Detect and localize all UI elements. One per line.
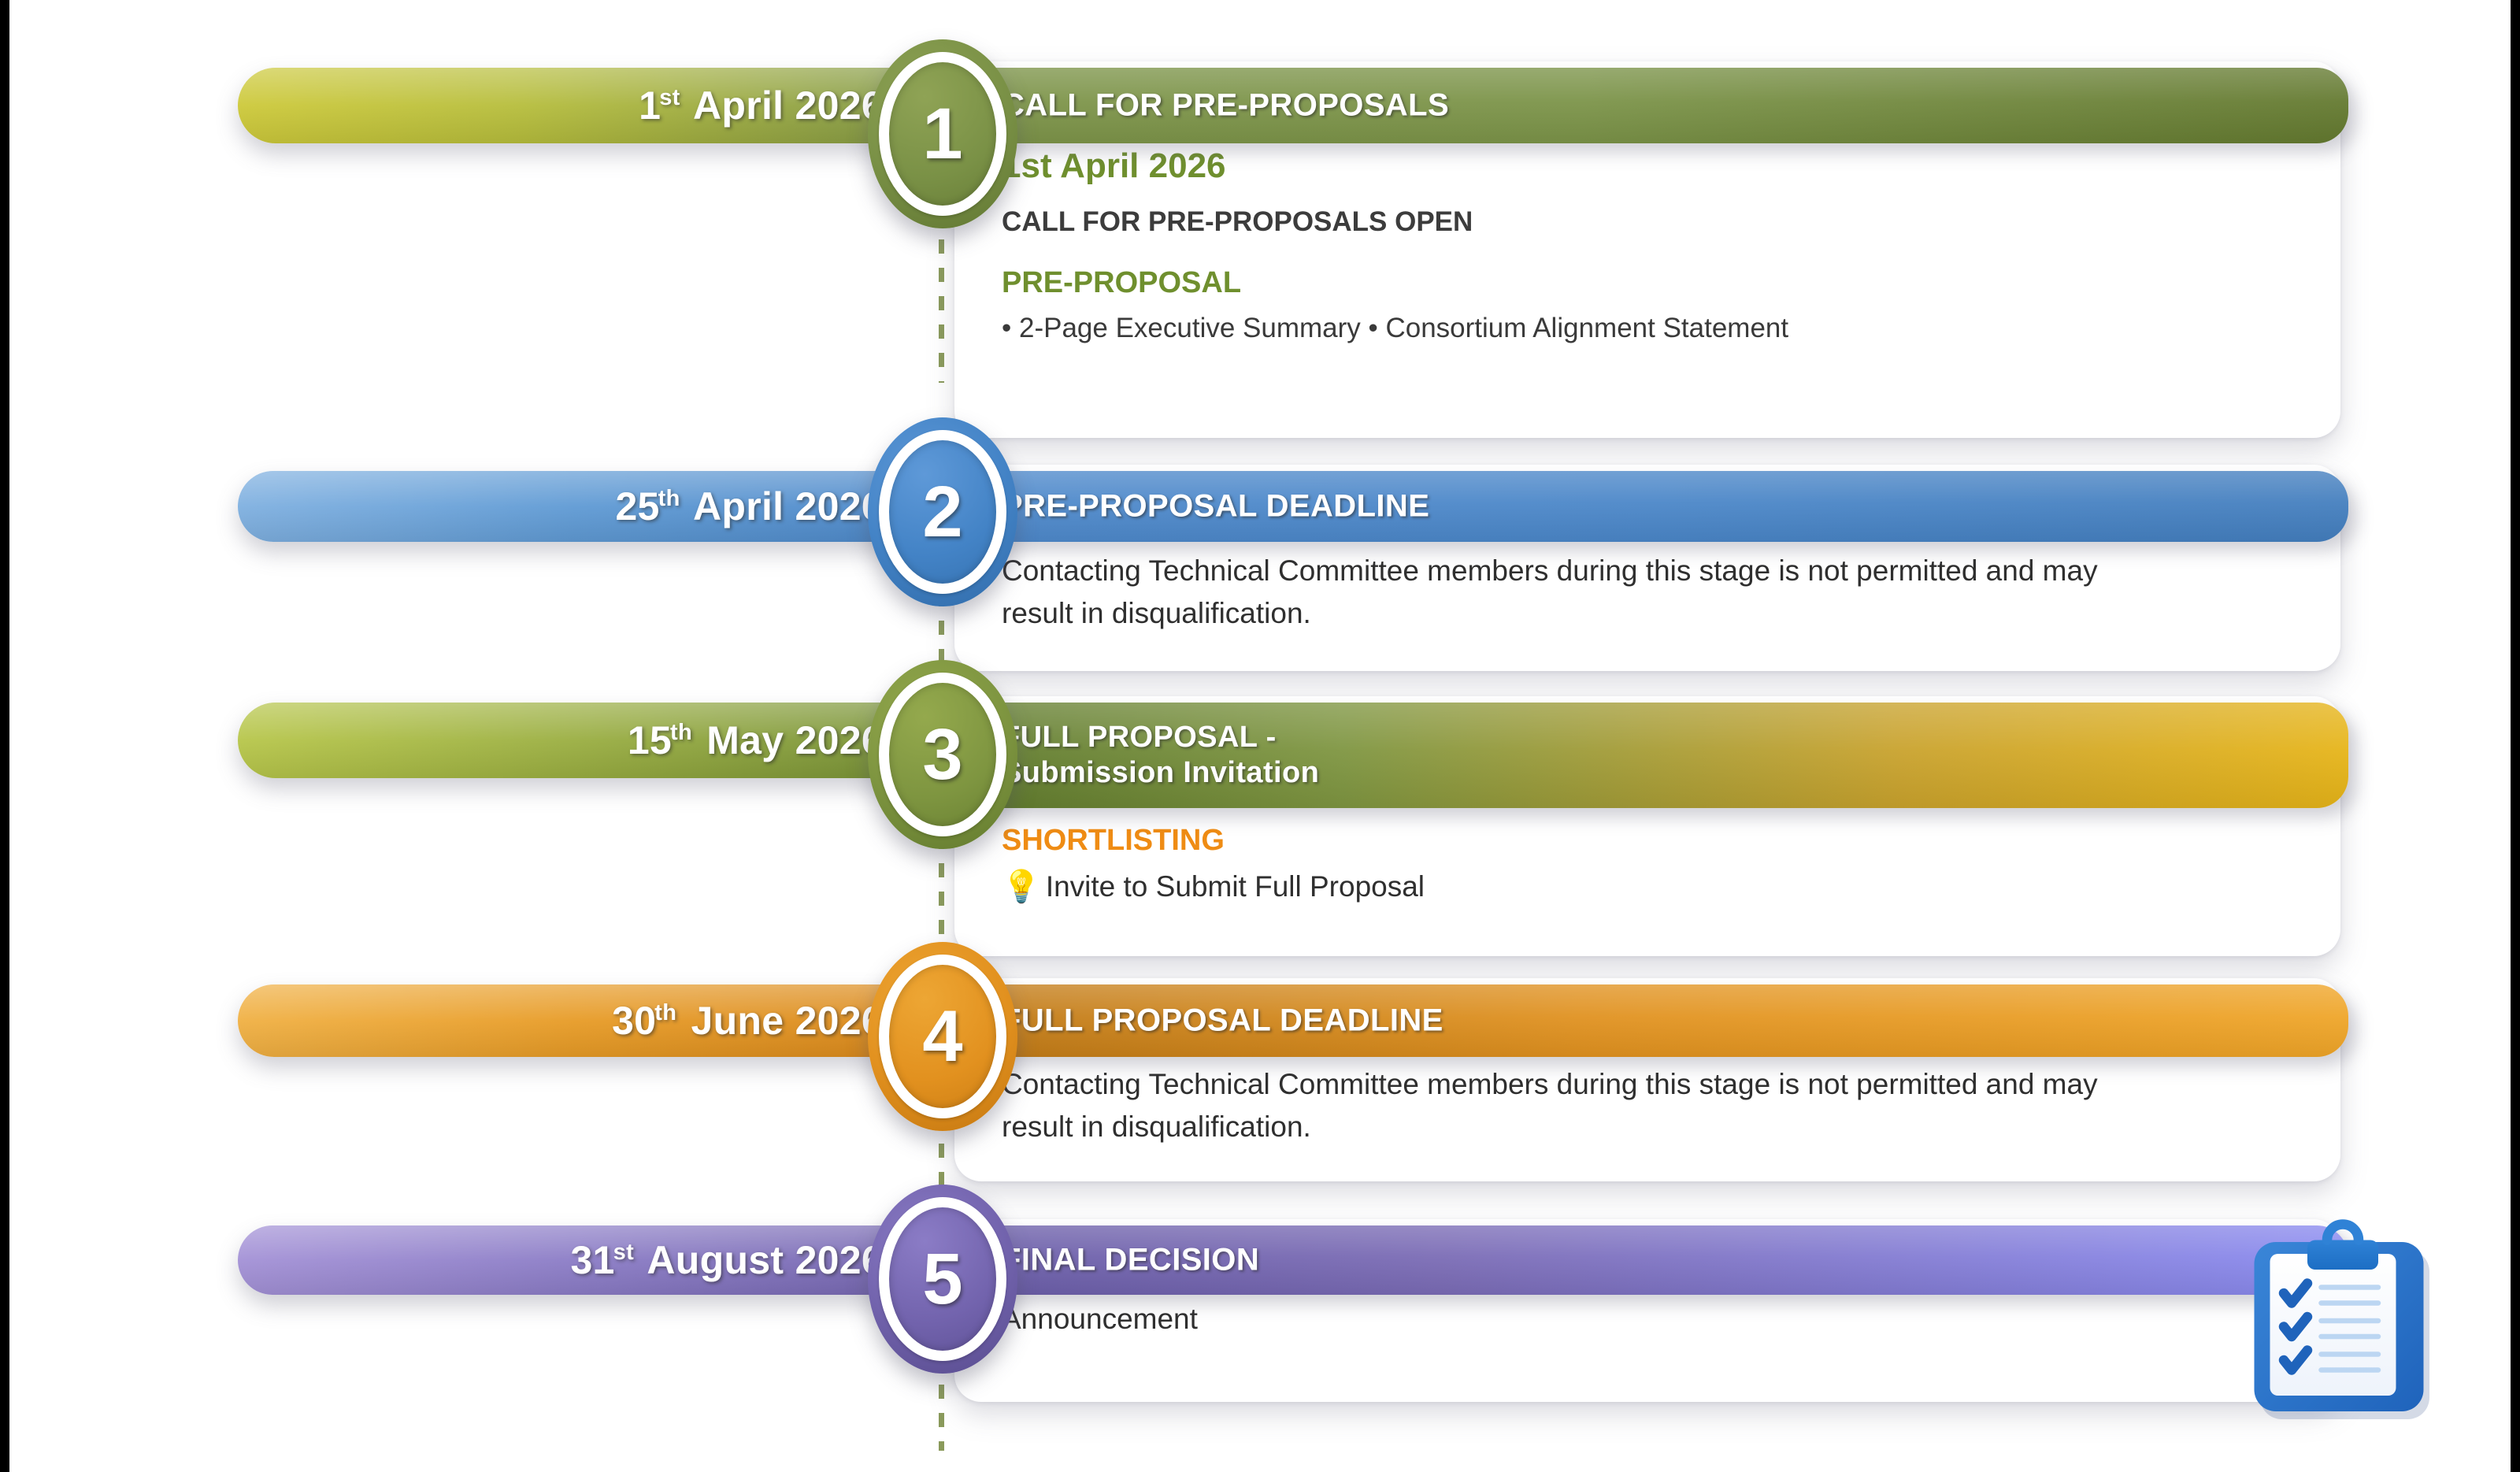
step-4-badge-number: 4 (922, 1000, 962, 1073)
step-4-badge[interactable]: 4 (868, 942, 1017, 1131)
step-1-body-subtitle: CALL FOR PRE-PROPOSALS OPEN (1002, 206, 2303, 238)
step-5-title: FINAL DECISION (1002, 1241, 1259, 1278)
step-4-title: FULL PROPOSAL DEADLINE (1002, 1002, 1443, 1039)
step-1-section-head: PRE-PROPOSAL (1002, 266, 2303, 300)
step-1-header-bar: CALL FOR PRE-PROPOSALS (954, 68, 2348, 143)
step-3-bulb-line: 💡 Invite to Submit Full Proposal (1002, 870, 2303, 903)
step-1-badge-number: 1 (922, 98, 962, 170)
step-2-badge-number: 2 (922, 476, 962, 548)
step-2-paragraph: Contacting Technical Committee members d… (1002, 550, 2167, 636)
step-4-paragraph: Contacting Technical Committee members d… (1002, 1063, 2167, 1149)
step-2-date-label: 25th April 2026 (615, 484, 884, 529)
screenshot-stage: 1st April 2026 CALL FOR PRE-PROPOSALS OP… (0, 0, 2520, 1472)
clipboard-checklist-icon (2229, 1207, 2465, 1443)
step-5-date-label: 31st August 2026 (570, 1237, 884, 1283)
step-1-list-line: • 2-Page Executive Summary • Consortium … (1002, 313, 2303, 344)
step-2-badge[interactable]: 2 (868, 417, 1017, 606)
step-2-title: PRE-PROPOSAL DEADLINE (1002, 488, 1429, 525)
step-3-badge[interactable]: 3 (868, 660, 1017, 849)
step-3-badge-number: 3 (922, 718, 962, 791)
step-2-header-bar: PRE-PROPOSAL DEADLINE (954, 471, 2348, 542)
step-3-bulb-text: Invite to Submit Full Proposal (1046, 870, 1425, 903)
step-3-date-label: 15th May 2026 (628, 717, 884, 763)
timeline-canvas: 1st April 2026 CALL FOR PRE-PROPOSALS OP… (9, 0, 2511, 1472)
lightbulb-icon: 💡 (1002, 871, 1041, 903)
step-1-body-date: 1st April 2026 (1002, 146, 2303, 186)
step-5-badge[interactable]: 5 (868, 1185, 1017, 1374)
step-4-date-label: 30th June 2026 (612, 998, 884, 1044)
step-5-header-bar: FINAL DECISION (954, 1225, 2348, 1295)
step-3-section-head: SHORTLISTING (1002, 824, 2303, 858)
step-1-badge[interactable]: 1 (868, 39, 1017, 228)
step-4-header-bar: FULL PROPOSAL DEADLINE (954, 984, 2348, 1057)
step-1-title: CALL FOR PRE-PROPOSALS (1002, 87, 1449, 124)
connector-1-2 (939, 211, 944, 383)
step-3-title: FULL PROPOSAL - Submission Invitation (1002, 720, 1319, 791)
step-1-date-label: 1st April 2026 (639, 83, 884, 128)
step-5-line: Announcement (1002, 1303, 2303, 1336)
step-5-badge-number: 5 (922, 1243, 962, 1315)
step-3-header-bar: FULL PROPOSAL - Submission Invitation (954, 703, 2348, 808)
